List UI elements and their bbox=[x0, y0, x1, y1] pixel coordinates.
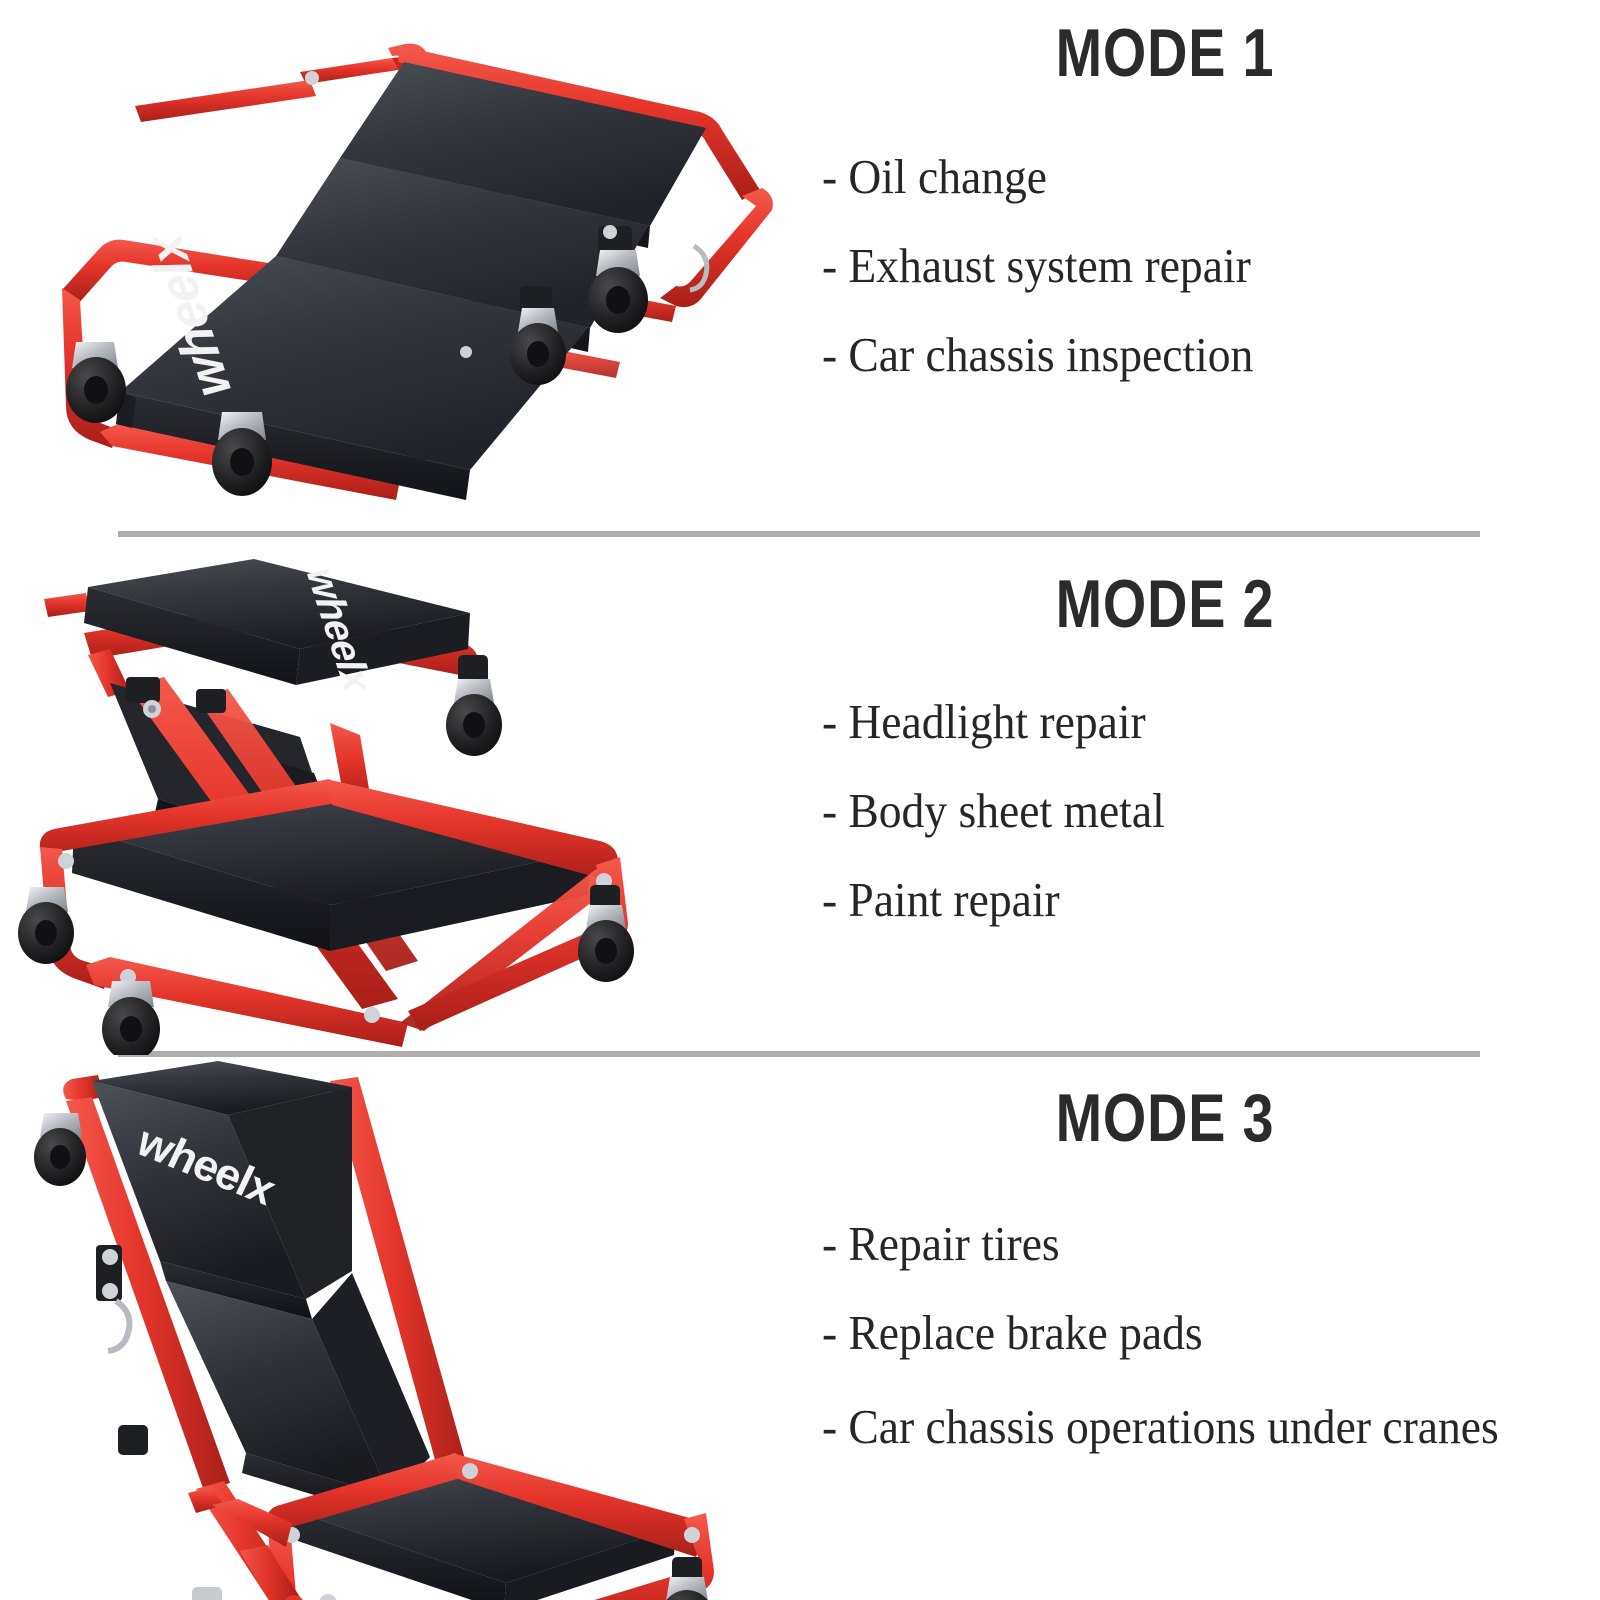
base-pad bbox=[72, 785, 590, 951]
bullet-dash: - bbox=[822, 239, 837, 294]
reclined-chair-illustration: wheelx bbox=[0, 1057, 800, 1600]
bullet-item: -Repair tires bbox=[822, 1217, 1529, 1272]
bullet-dash: - bbox=[822, 1217, 837, 1272]
bullet-item: -Car chassis operations under cranes bbox=[822, 1395, 1529, 1460]
caster-front-left bbox=[66, 342, 126, 423]
bullet-dash: - bbox=[822, 873, 837, 928]
infographic-page: wheelx bbox=[0, 0, 1600, 1600]
mode-3-text-column: MODE 3 -Repair tires -Replace brake pads… bbox=[800, 1057, 1600, 1600]
caster-base-front bbox=[102, 981, 160, 1055]
mode-2-text-column: MODE 2 -Headlight repair -Body sheet met… bbox=[800, 537, 1600, 1055]
bullet-text: Repair tires bbox=[848, 1216, 1059, 1271]
bullet-dash: - bbox=[822, 695, 837, 750]
bullet-text: Replace brake pads bbox=[848, 1305, 1202, 1360]
upper-seat-pad: wheelx bbox=[84, 559, 470, 696]
bullet-text: Paint repair bbox=[848, 872, 1059, 927]
caster-base-left bbox=[18, 887, 74, 964]
caster-back-top-left bbox=[34, 1113, 86, 1186]
bullet-item: -Body sheet metal bbox=[822, 784, 1529, 839]
bullet-text: Car chassis inspection bbox=[848, 327, 1253, 382]
bullet-dash: - bbox=[822, 328, 837, 383]
bullet-text: Car chassis operations under cranes bbox=[848, 1399, 1498, 1454]
bullet-dash: - bbox=[822, 150, 837, 205]
z-creeper-illustration: wheelx bbox=[0, 537, 800, 1055]
bullet-dash: - bbox=[822, 1395, 837, 1460]
bullet-text: Headlight repair bbox=[848, 694, 1145, 749]
mode-2-title: MODE 2 bbox=[866, 565, 1465, 643]
caster-front-left bbox=[177, 1587, 235, 1600]
mode-1-section: wheelx bbox=[0, 0, 1600, 535]
bullet-text: Exhaust system repair bbox=[848, 238, 1250, 293]
bullet-item: -Paint repair bbox=[822, 873, 1529, 928]
bullet-dash: - bbox=[822, 784, 837, 839]
bullet-text: Body sheet metal bbox=[848, 783, 1164, 838]
mode-1-bullet-list: -Oil change -Exhaust system repair -Car … bbox=[822, 150, 1529, 417]
mode-2-section: wheelx bbox=[0, 537, 1600, 1055]
mode-2-bullet-list: -Headlight repair -Body sheet metal -Pai… bbox=[822, 695, 1529, 962]
mode-3-section: wheelx bbox=[0, 1057, 1600, 1600]
mode-1-text-column: MODE 1 -Oil change -Exhaust system repai… bbox=[800, 0, 1600, 535]
bullet-text: Oil change bbox=[848, 149, 1047, 204]
bullet-item: -Replace brake pads bbox=[822, 1306, 1529, 1361]
bullet-item: -Exhaust system repair bbox=[822, 239, 1529, 294]
flat-creeper-illustration: wheelx bbox=[0, 0, 800, 535]
bullet-item: -Headlight repair bbox=[822, 695, 1529, 750]
mode-3-product-image: wheelx bbox=[0, 1057, 800, 1600]
bullet-item: -Car chassis inspection bbox=[822, 328, 1529, 383]
bullet-dash: - bbox=[822, 1306, 837, 1361]
front-cross-frame bbox=[188, 1481, 300, 1600]
mode-2-product-image: wheelx bbox=[0, 537, 800, 1055]
mode-3-title: MODE 3 bbox=[866, 1079, 1465, 1157]
bullet-item: -Oil change bbox=[822, 150, 1529, 205]
caster-front-right bbox=[212, 412, 272, 496]
mode-1-title: MODE 1 bbox=[866, 14, 1465, 92]
mode-3-bullet-list: -Repair tires -Replace brake pads -Car c… bbox=[822, 1217, 1529, 1493]
mode-1-product-image: wheelx bbox=[0, 0, 800, 535]
